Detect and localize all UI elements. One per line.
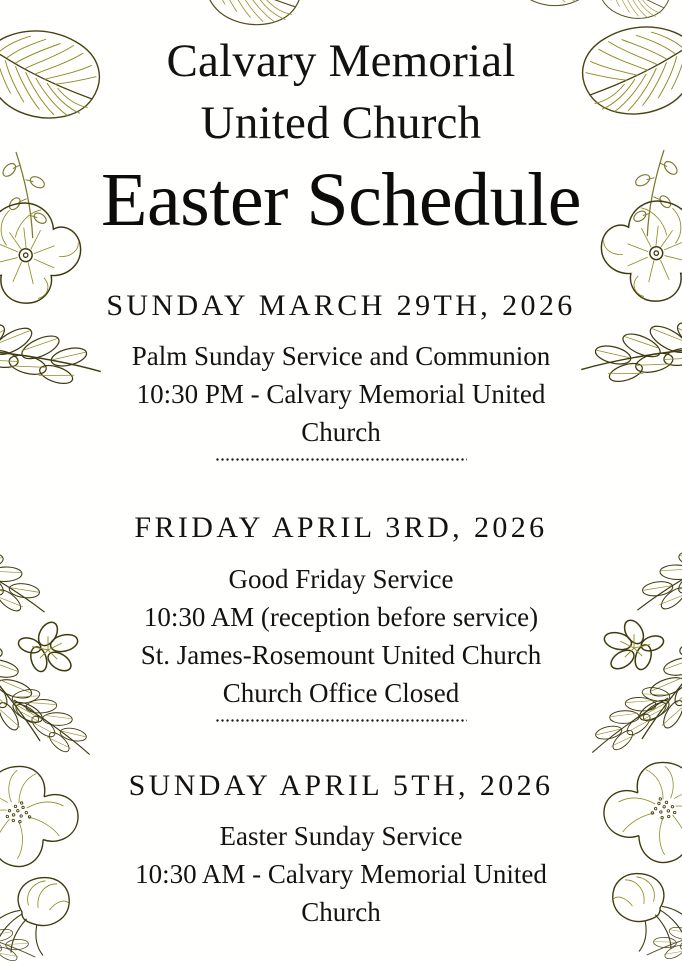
easter-schedule-poster: Calvary Memorial United Church Easter Sc…	[0, 0, 682, 966]
section-1-detail-2: 10:30 PM - Calvary Memorial United Churc…	[106, 375, 576, 451]
schedule-section-1: SUNDAY MARCH 29TH, 2026 Palm Sunday Serv…	[0, 286, 682, 461]
section-3-date: SUNDAY APRIL 5TH, 2026	[0, 766, 682, 806]
poster-content: Calvary Memorial United Church Easter Sc…	[0, 0, 682, 966]
schedule-section-3: SUNDAY APRIL 5TH, 2026 Easter Sunday Ser…	[0, 766, 682, 931]
section-2-details: Good Friday Service 10:30 AM (reception …	[81, 560, 601, 712]
section-2-detail-1: Good Friday Service	[81, 560, 601, 598]
poster-title-block: Calvary Memorial United Church Easter Sc…	[0, 30, 682, 242]
schedule-section-2: FRIDAY APRIL 3RD, 2026 Good Friday Servi…	[0, 508, 682, 722]
section-3-detail-2: 10:30 AM - Calvary Memorial United Churc…	[106, 855, 576, 931]
section-2-divider	[215, 719, 467, 722]
section-1-details: Palm Sunday Service and Communion 10:30 …	[106, 337, 576, 451]
section-3-details: Easter Sunday Service 10:30 AM - Calvary…	[106, 817, 576, 931]
section-1-detail-1: Palm Sunday Service and Communion	[106, 337, 576, 375]
page-title: Easter Schedule	[0, 158, 682, 242]
church-name-line-1: Calvary Memorial	[0, 30, 682, 92]
section-2-detail-4: Church Office Closed	[81, 674, 601, 712]
section-1-divider	[215, 458, 467, 461]
section-2-detail-3: St. James-Rosemount United Church	[81, 636, 601, 674]
section-2-date: FRIDAY APRIL 3RD, 2026	[0, 508, 682, 548]
section-3-detail-1: Easter Sunday Service	[106, 817, 576, 855]
section-1-date: SUNDAY MARCH 29TH, 2026	[0, 286, 682, 326]
church-name-line-2: United Church	[0, 92, 682, 154]
section-2-detail-2: 10:30 AM (reception before service)	[81, 598, 601, 636]
